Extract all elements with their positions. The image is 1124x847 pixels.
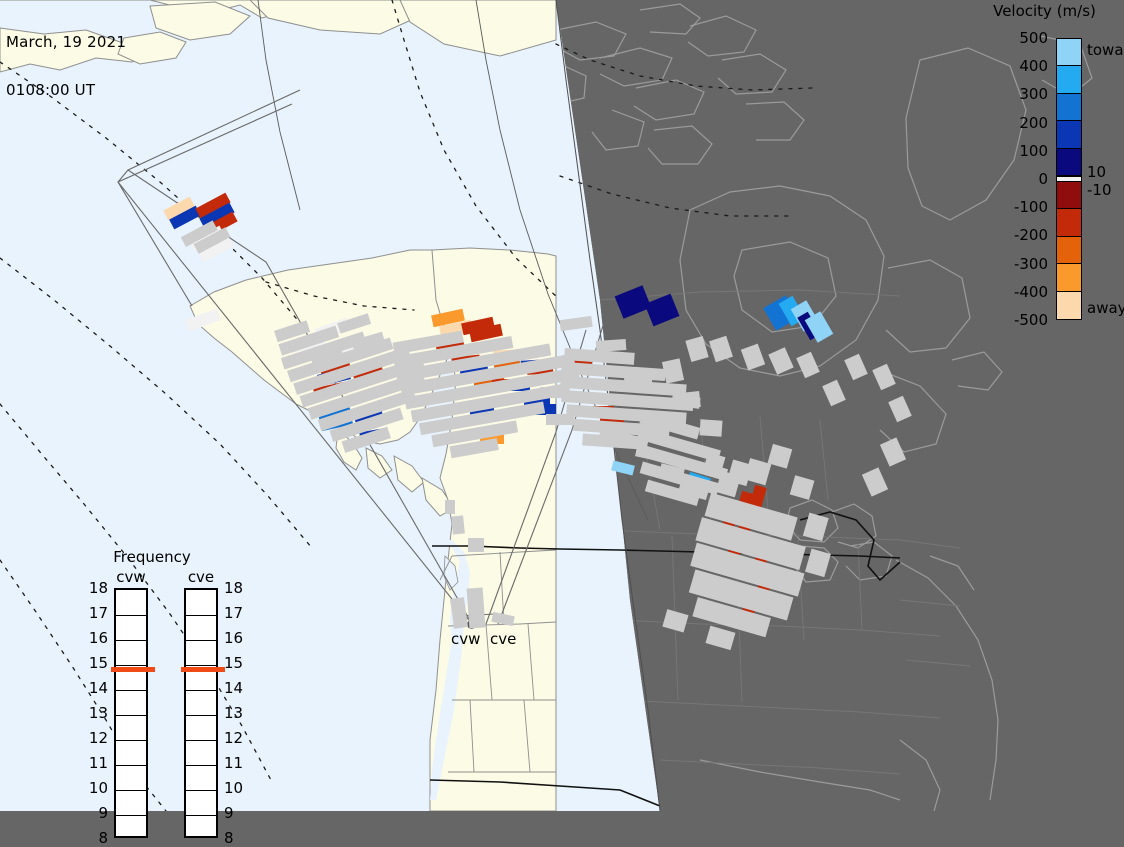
frequency-gridline [186, 815, 216, 816]
frequency-gridline [116, 815, 146, 816]
frequency-tick-label: 8 [224, 829, 234, 847]
ground-scatter-layer [0, 0, 1124, 811]
frequency-tick-label: 8 [88, 829, 108, 847]
map-canvas: March, 19 2021 0108:00 UT cvw cve Veloci… [0, 0, 1124, 811]
